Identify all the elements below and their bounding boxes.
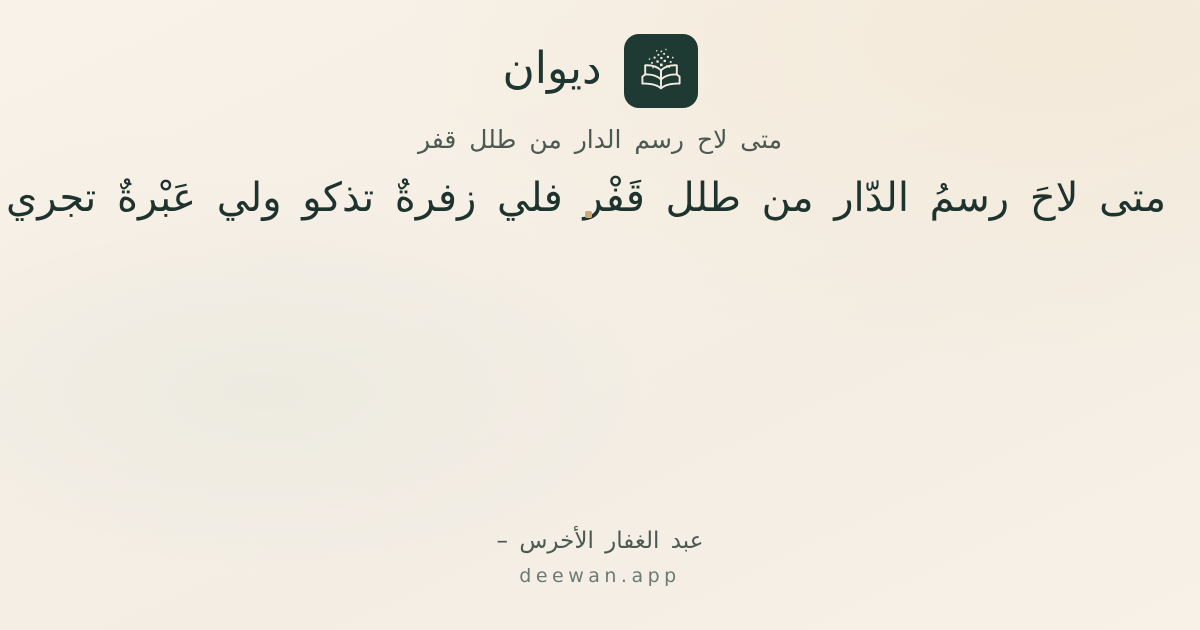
poem-title: متى لاح رسم الدار من طلل قفر xyxy=(418,124,782,155)
poem-verse: متى لاحَ رسمُ الدّار من طلل قَفْر فلي زف… xyxy=(0,169,1186,227)
card-footer: عبد الغفار الأخرس – deewan.app xyxy=(0,530,1200,586)
brand-header: ديوان xyxy=(502,32,697,110)
open-book-sparkles-icon xyxy=(624,34,698,108)
poem-share-card: ديوان متى لاح رسم الدار من طلل قفر متى ل… xyxy=(0,0,1200,630)
brand-wordmark: ديوان xyxy=(502,47,601,95)
poem-verse-block: متى لاحَ رسمُ الدّار من طلل قَفْر فلي زف… xyxy=(0,169,1200,247)
site-url: deewan.app xyxy=(519,567,680,586)
hemistich-separator-dot xyxy=(585,211,592,218)
poet-attribution: عبد الغفار الأخرس – xyxy=(497,530,704,553)
